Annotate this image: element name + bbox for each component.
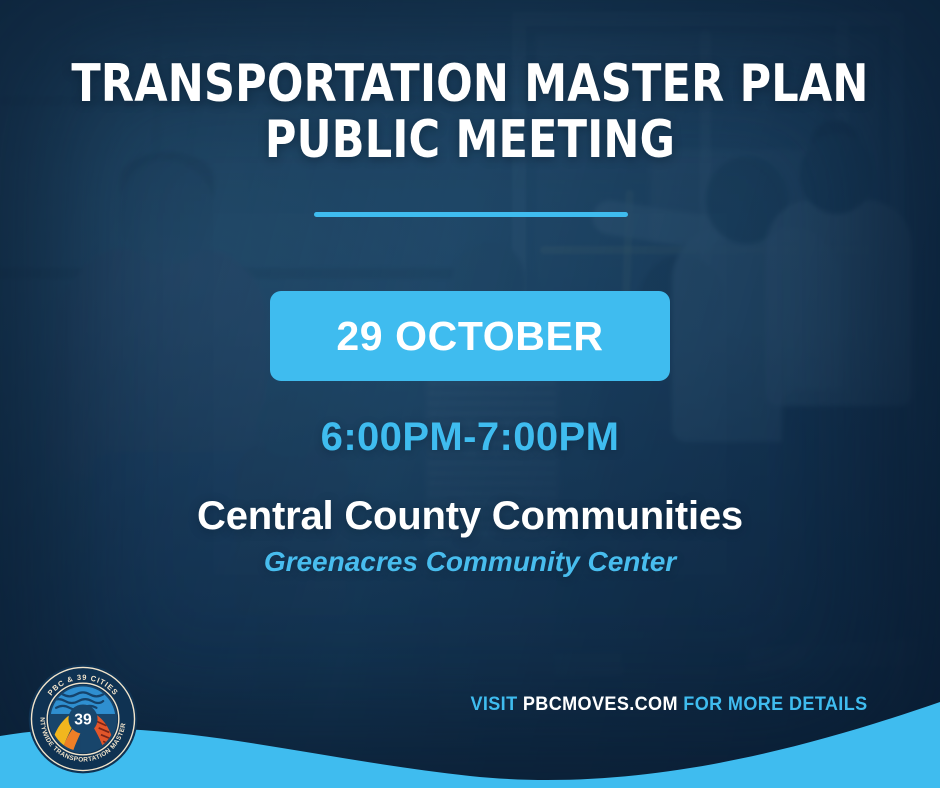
event-venue-name: Greenacres Community Center bbox=[0, 546, 940, 578]
logo-center-number: 39 bbox=[74, 712, 92, 729]
date-badge: 29 OCTOBER bbox=[270, 291, 670, 381]
footer-cta[interactable]: VISIT PBCMOVES.COM FOR MORE DETAILS bbox=[470, 694, 867, 716]
title-divider-rule bbox=[314, 212, 628, 217]
event-area-name: Central County Communities bbox=[0, 494, 940, 539]
page-title: TRANSPORTATION MASTER PLAN PUBLIC MEETIN… bbox=[38, 56, 903, 168]
footer-website-link[interactable]: PBCMOVES.COM bbox=[523, 694, 678, 715]
bottom-wave-shape bbox=[0, 658, 940, 788]
title-line-1: TRANSPORTATION MASTER PLAN bbox=[71, 54, 868, 114]
pbc-moves-logo[interactable]: 39 PBC & 39 CITIES COUNTYWIDE TRANSPORTA… bbox=[27, 663, 139, 775]
date-badge-label: 29 OCTOBER bbox=[336, 313, 603, 360]
event-time: 6:00PM-7:00PM bbox=[0, 415, 940, 460]
footer-visit-label: VISIT bbox=[470, 694, 517, 715]
event-flyer: TRANSPORTATION MASTER PLAN PUBLIC MEETIN… bbox=[0, 0, 940, 788]
title-line-2: PUBLIC MEETING bbox=[38, 112, 903, 168]
footer-details-label: FOR MORE DETAILS bbox=[683, 694, 867, 715]
